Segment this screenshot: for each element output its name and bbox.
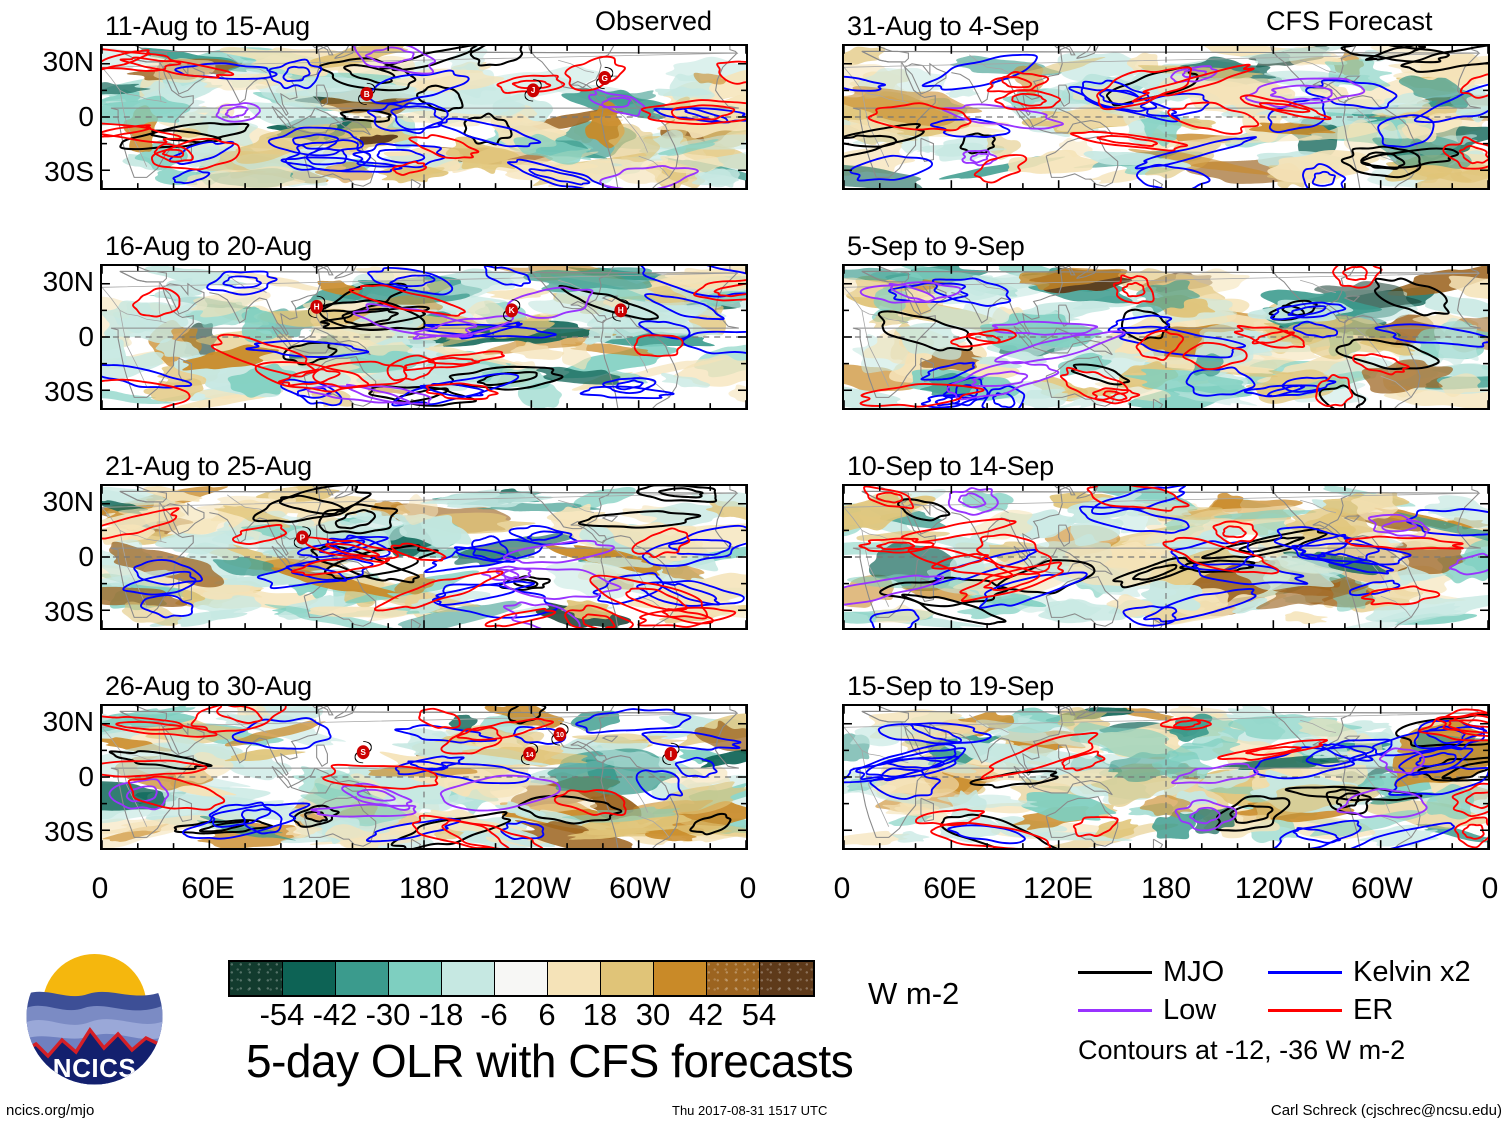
contour-level-note: Contours at -12, -36 W m-2 [1078, 1037, 1498, 1064]
footer-right: Carl Schreck (cjschrec@ncsu.edu) [1271, 1103, 1502, 1118]
svg-text:NCICS: NCICS [53, 1053, 136, 1083]
map-canvas: HKH [102, 266, 746, 408]
legend-label-mjo: MJO [1163, 958, 1224, 987]
legend-label-low: Low [1163, 996, 1216, 1025]
svg-text:H: H [314, 303, 320, 312]
legend-swatch-er [1268, 1009, 1342, 1012]
ncics-logo: NCICS [22, 944, 167, 1089]
y-tick-0: 0 [2, 763, 94, 791]
svg-text:S: S [360, 748, 366, 757]
x-tick-60w-col2: 60W [1322, 874, 1442, 904]
x-tick-60e-col1: 60E [148, 874, 268, 904]
colorbar-tick-30: 30 [636, 999, 670, 1030]
map-canvas: P [102, 486, 746, 628]
legend-item-low[interactable]: Low [1078, 996, 1268, 1025]
colorbar-swatch-0 [230, 962, 283, 995]
svg-text:P: P [300, 533, 306, 542]
y-tick-30s: 30S [2, 598, 94, 626]
map-canvas [844, 706, 1488, 848]
colorbar-tick-neg54: -54 [260, 999, 305, 1030]
colorbar-tick-labels: -54-42-30-18-6618304254 [228, 997, 813, 1031]
map-canvas: BJG [102, 46, 746, 188]
x-tick-180-col2: 180 [1106, 874, 1226, 904]
colorbar-tick-6: 6 [538, 999, 555, 1030]
y-tick-0: 0 [2, 543, 94, 571]
legend-item-er[interactable]: ER [1268, 996, 1468, 1025]
colorbar-swatches [228, 960, 815, 997]
map-cfs-2[interactable] [842, 264, 1490, 410]
y-tick-0: 0 [2, 103, 94, 131]
panel-title-obs-3: 21-Aug to 25-Aug [105, 453, 312, 480]
main-title: 5-day OLR with CFS forecasts [246, 1038, 853, 1084]
y-tick-30s: 30S [2, 158, 94, 186]
map-obs-4[interactable]: S1014I [100, 704, 748, 850]
colorbar-tick-neg6: -6 [480, 999, 508, 1030]
svg-text:J: J [531, 86, 536, 95]
colorbar-tick-54: 54 [742, 999, 776, 1030]
panel-title-cfs-2: 5-Sep to 9-Sep [847, 233, 1024, 260]
x-tick-120w-col2: 120W [1214, 874, 1334, 904]
map-canvas: S1014I [102, 706, 746, 848]
colorbar-tick-18: 18 [583, 999, 617, 1030]
colorbar-swatch-4 [442, 962, 495, 995]
x-tick-60w-col1: 60W [580, 874, 700, 904]
y-tick-30n: 30N [2, 708, 94, 736]
legend-swatch-kelvin-x2 [1268, 971, 1342, 974]
x-tick-120e-col1: 120E [256, 874, 376, 904]
x-tick-0-col2: 0 [782, 874, 902, 904]
colorbar-swatch-7 [601, 962, 654, 995]
svg-text:K: K [509, 306, 515, 315]
map-canvas [844, 266, 1488, 408]
x-tick-60e-col2: 60E [890, 874, 1010, 904]
panel-title-obs-4: 26-Aug to 30-Aug [105, 673, 312, 700]
colorbar-swatch-8 [654, 962, 707, 995]
ncics-logo-icon: NCICS [22, 944, 167, 1089]
svg-text:I: I [670, 750, 672, 759]
colorbar-swatch-3 [389, 962, 442, 995]
panel-title-cfs-1: 31-Aug to 4-Sep [847, 13, 1039, 40]
legend-label-kelvin-x2: Kelvin x2 [1353, 958, 1471, 987]
svg-text:G: G [601, 74, 607, 83]
svg-text:B: B [364, 90, 370, 99]
x-tick-0-col2: 0 [1430, 874, 1510, 904]
map-canvas [844, 486, 1488, 628]
legend-label-er: ER [1353, 996, 1393, 1025]
y-tick-30n: 30N [2, 48, 94, 76]
panel-title-cfs-4: 15-Sep to 19-Sep [847, 673, 1054, 700]
svg-text:10: 10 [556, 732, 564, 739]
colorbar-units-label: W m-2 [868, 978, 959, 1009]
map-cfs-1[interactable] [842, 44, 1490, 190]
legend-item-mjo[interactable]: MJO [1078, 958, 1268, 987]
y-tick-30s: 30S [2, 818, 94, 846]
colorbar-swatch-6 [548, 962, 601, 995]
colorbar-swatch-1 [283, 962, 336, 995]
x-tick-180-col1: 180 [364, 874, 484, 904]
map-obs-3[interactable]: P [100, 484, 748, 630]
legend-items: MJOKelvin x2LowER [1078, 958, 1498, 1025]
y-tick-30s: 30S [2, 378, 94, 406]
colorbar-tick-neg18: -18 [419, 999, 464, 1030]
colorbar-swatch-9 [707, 962, 760, 995]
map-obs-2[interactable]: HKH [100, 264, 748, 410]
map-cfs-3[interactable] [842, 484, 1490, 630]
colorbar-tick-neg42: -42 [313, 999, 358, 1030]
colorbar-swatch-10 [760, 962, 813, 995]
legend-item-kelvin-x2[interactable]: Kelvin x2 [1268, 958, 1468, 987]
legend-swatch-low [1078, 1009, 1152, 1012]
panel-title-obs-2: 16-Aug to 20-Aug [105, 233, 312, 260]
legend-swatch-mjo [1078, 971, 1152, 974]
column-header-observed: Observed [595, 8, 712, 35]
x-tick-0-col1: 0 [40, 874, 160, 904]
map-cfs-4[interactable] [842, 704, 1490, 850]
colorbar: -54-42-30-18-6618304254 [228, 960, 815, 1031]
colorbar-swatch-2 [336, 962, 389, 995]
x-tick-120w-col1: 120W [472, 874, 592, 904]
colorbar-swatch-5 [495, 962, 548, 995]
contour-legend: MJOKelvin x2LowER Contours at -12, -36 W… [1078, 958, 1498, 1064]
y-tick-30n: 30N [2, 268, 94, 296]
y-tick-30n: 30N [2, 488, 94, 516]
x-tick-120e-col2: 120E [998, 874, 1118, 904]
panel-title-cfs-3: 10-Sep to 14-Sep [847, 453, 1054, 480]
map-obs-1[interactable]: BJG [100, 44, 748, 190]
y-tick-0: 0 [2, 323, 94, 351]
svg-text:14: 14 [526, 752, 534, 759]
svg-text:H: H [618, 306, 624, 315]
footer-left[interactable]: ncics.org/mjo [6, 1103, 94, 1118]
panel-title-obs-1: 11-Aug to 15-Aug [105, 13, 310, 40]
map-canvas [844, 46, 1488, 188]
footer-center: Thu 2017-08-31 1517 UTC [672, 1103, 827, 1118]
colorbar-tick-neg30: -30 [366, 999, 411, 1030]
column-header-cfs: CFS Forecast [1266, 8, 1433, 35]
colorbar-tick-42: 42 [689, 999, 723, 1030]
